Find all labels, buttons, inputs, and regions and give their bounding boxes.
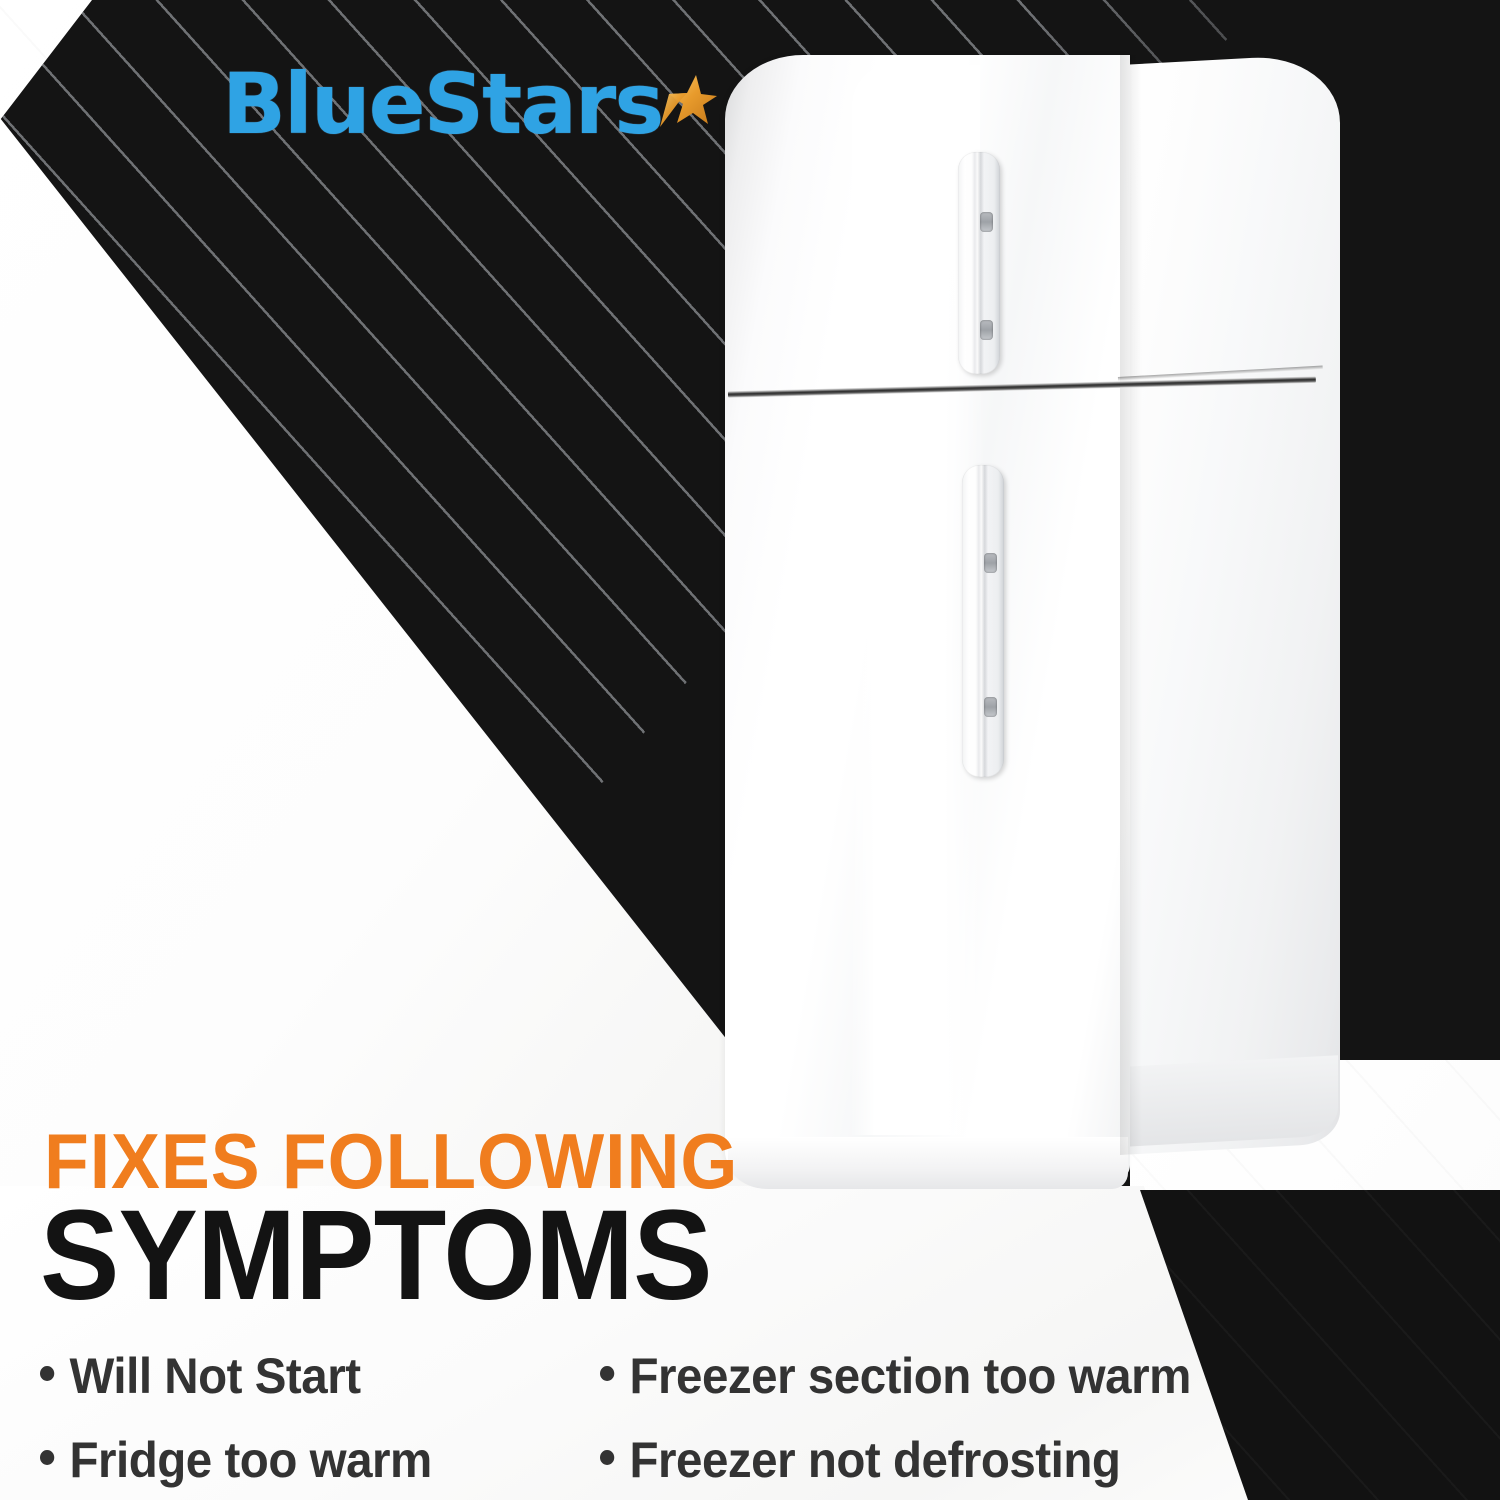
refrigerator-edge-shadow (1120, 54, 1142, 1155)
bullet-dot-icon (600, 1366, 614, 1381)
bullet-dot-icon (40, 1450, 54, 1465)
handle-screw-lower (984, 697, 997, 717)
bullet-dot-icon (40, 1366, 54, 1381)
symptom-list-left-column: Will Not Start Fridge too warm (40, 1348, 452, 1500)
list-item-label: Will Not Start (69, 1348, 360, 1404)
list-item: Fridge too warm (40, 1432, 432, 1488)
bluestars-logo: BlueStars (222, 62, 718, 146)
symptom-list-right-column: Freezer section too warm Freezer not def… (600, 1348, 1222, 1500)
logo-word-blue: Blue (222, 55, 424, 153)
list-item: Freezer not defrosting (600, 1432, 1191, 1488)
list-item: Will Not Start (40, 1348, 432, 1404)
fridge-door-handle (962, 465, 1004, 777)
product-listing-image: BlueStars (0, 0, 1500, 1500)
list-item-label: Freezer not defrosting (629, 1432, 1120, 1488)
refrigerator-side-panel (1120, 53, 1340, 1155)
freezer-door-handle (958, 152, 1000, 374)
logo-word-stars: Stars (424, 55, 663, 153)
headline-line-2: SYMPTOMS (40, 1192, 712, 1320)
list-item-label: Fridge too warm (69, 1432, 431, 1488)
refrigerator-side-base (1120, 1055, 1338, 1147)
handle-screw-upper (980, 212, 993, 232)
handle-screw-upper (984, 553, 997, 573)
handle-screw-lower (980, 320, 993, 340)
refrigerator-image (700, 55, 1350, 1205)
logo-wordmark: BlueStars (222, 62, 662, 146)
refrigerator-front-base (728, 1137, 1128, 1189)
list-item: Freezer section too warm (600, 1348, 1191, 1404)
list-item-label: Freezer section too warm (629, 1348, 1190, 1404)
bullet-dot-icon (600, 1450, 614, 1465)
